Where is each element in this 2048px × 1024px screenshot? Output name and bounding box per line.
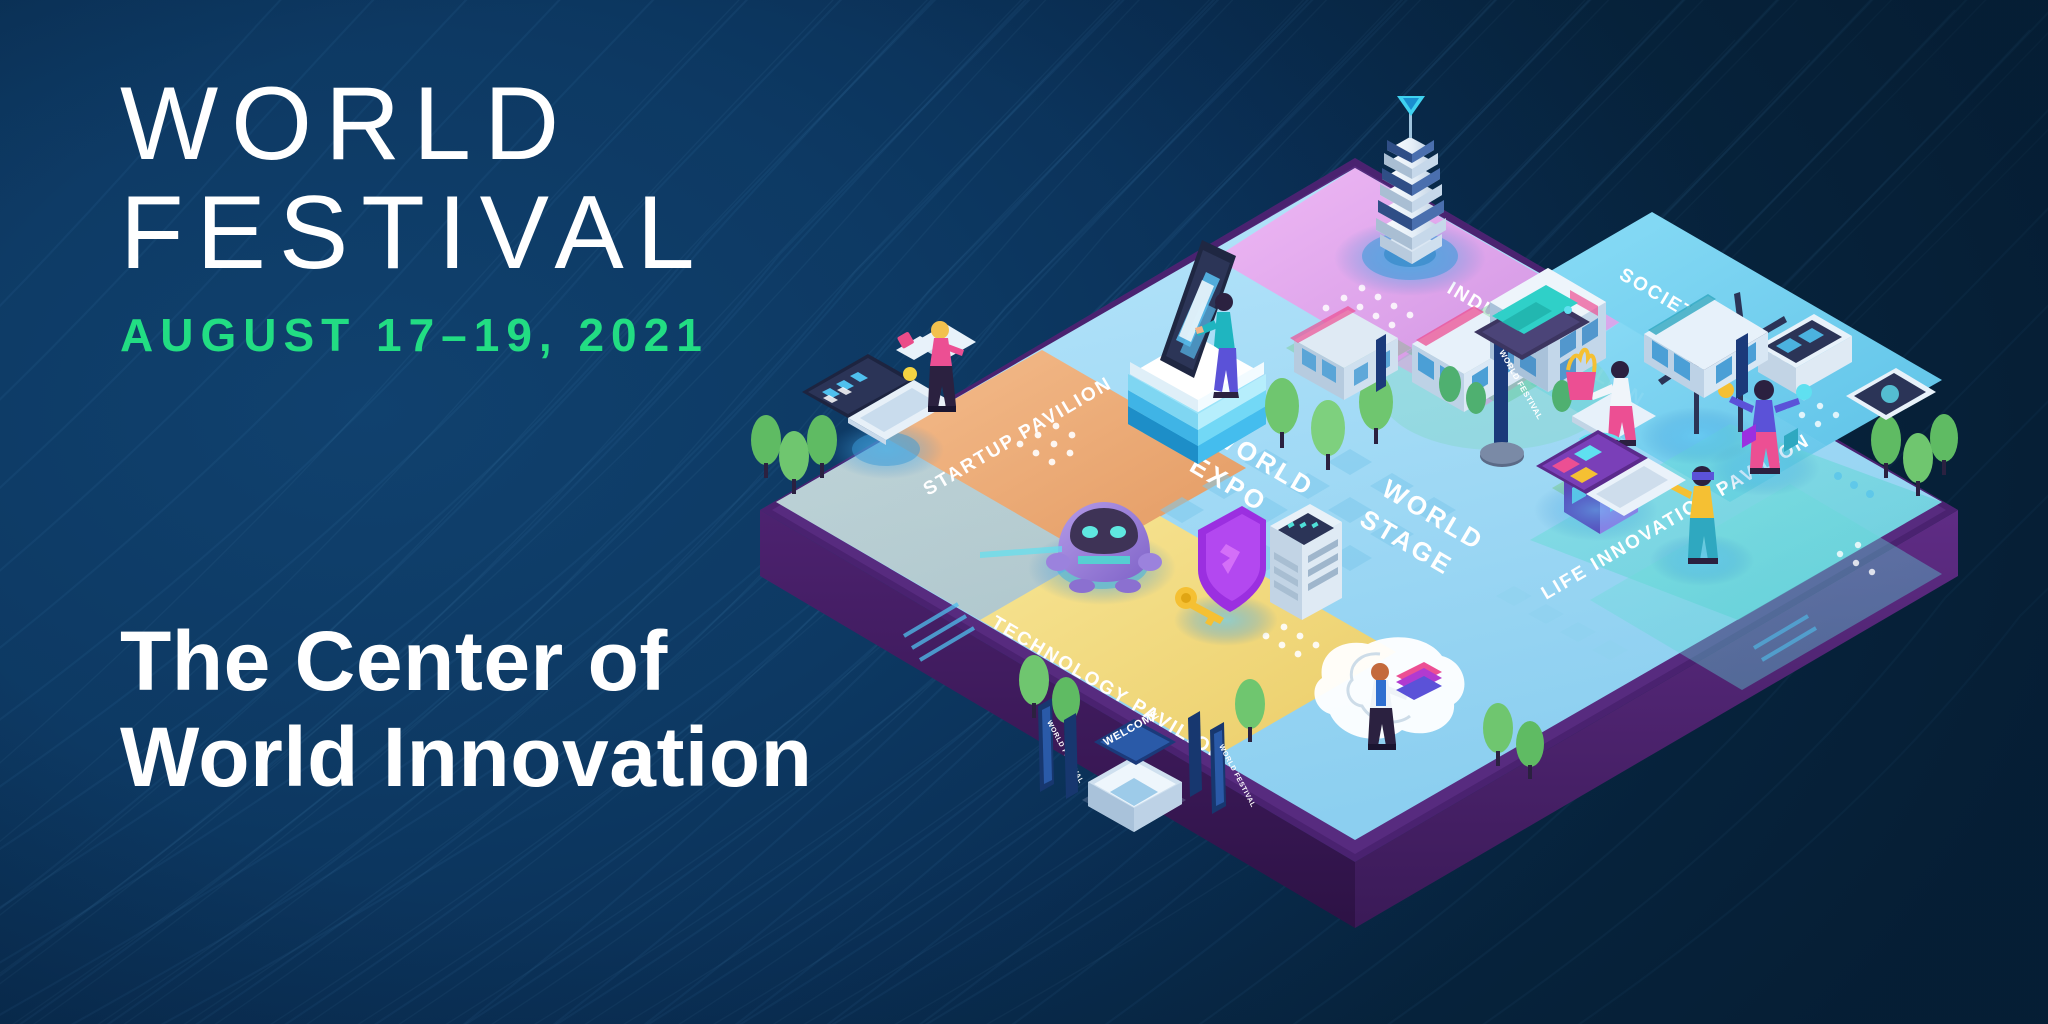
server-rack [1270, 504, 1342, 620]
pavilion-flag [1376, 334, 1386, 392]
kiosk-flag [1736, 333, 1748, 399]
tower-antenna-icon [1397, 96, 1425, 138]
promo-banner: WORLD FESTIVAL AUGUST 17–19, 2021 The Ce… [0, 0, 2048, 1024]
entrance-flag-mid-left [1064, 713, 1078, 799]
isometric-expo-island: INDUSTRY PAVILION SOCIETY PAVILION ST [690, 40, 2020, 1000]
entrance-flag-mid-right [1188, 711, 1202, 797]
